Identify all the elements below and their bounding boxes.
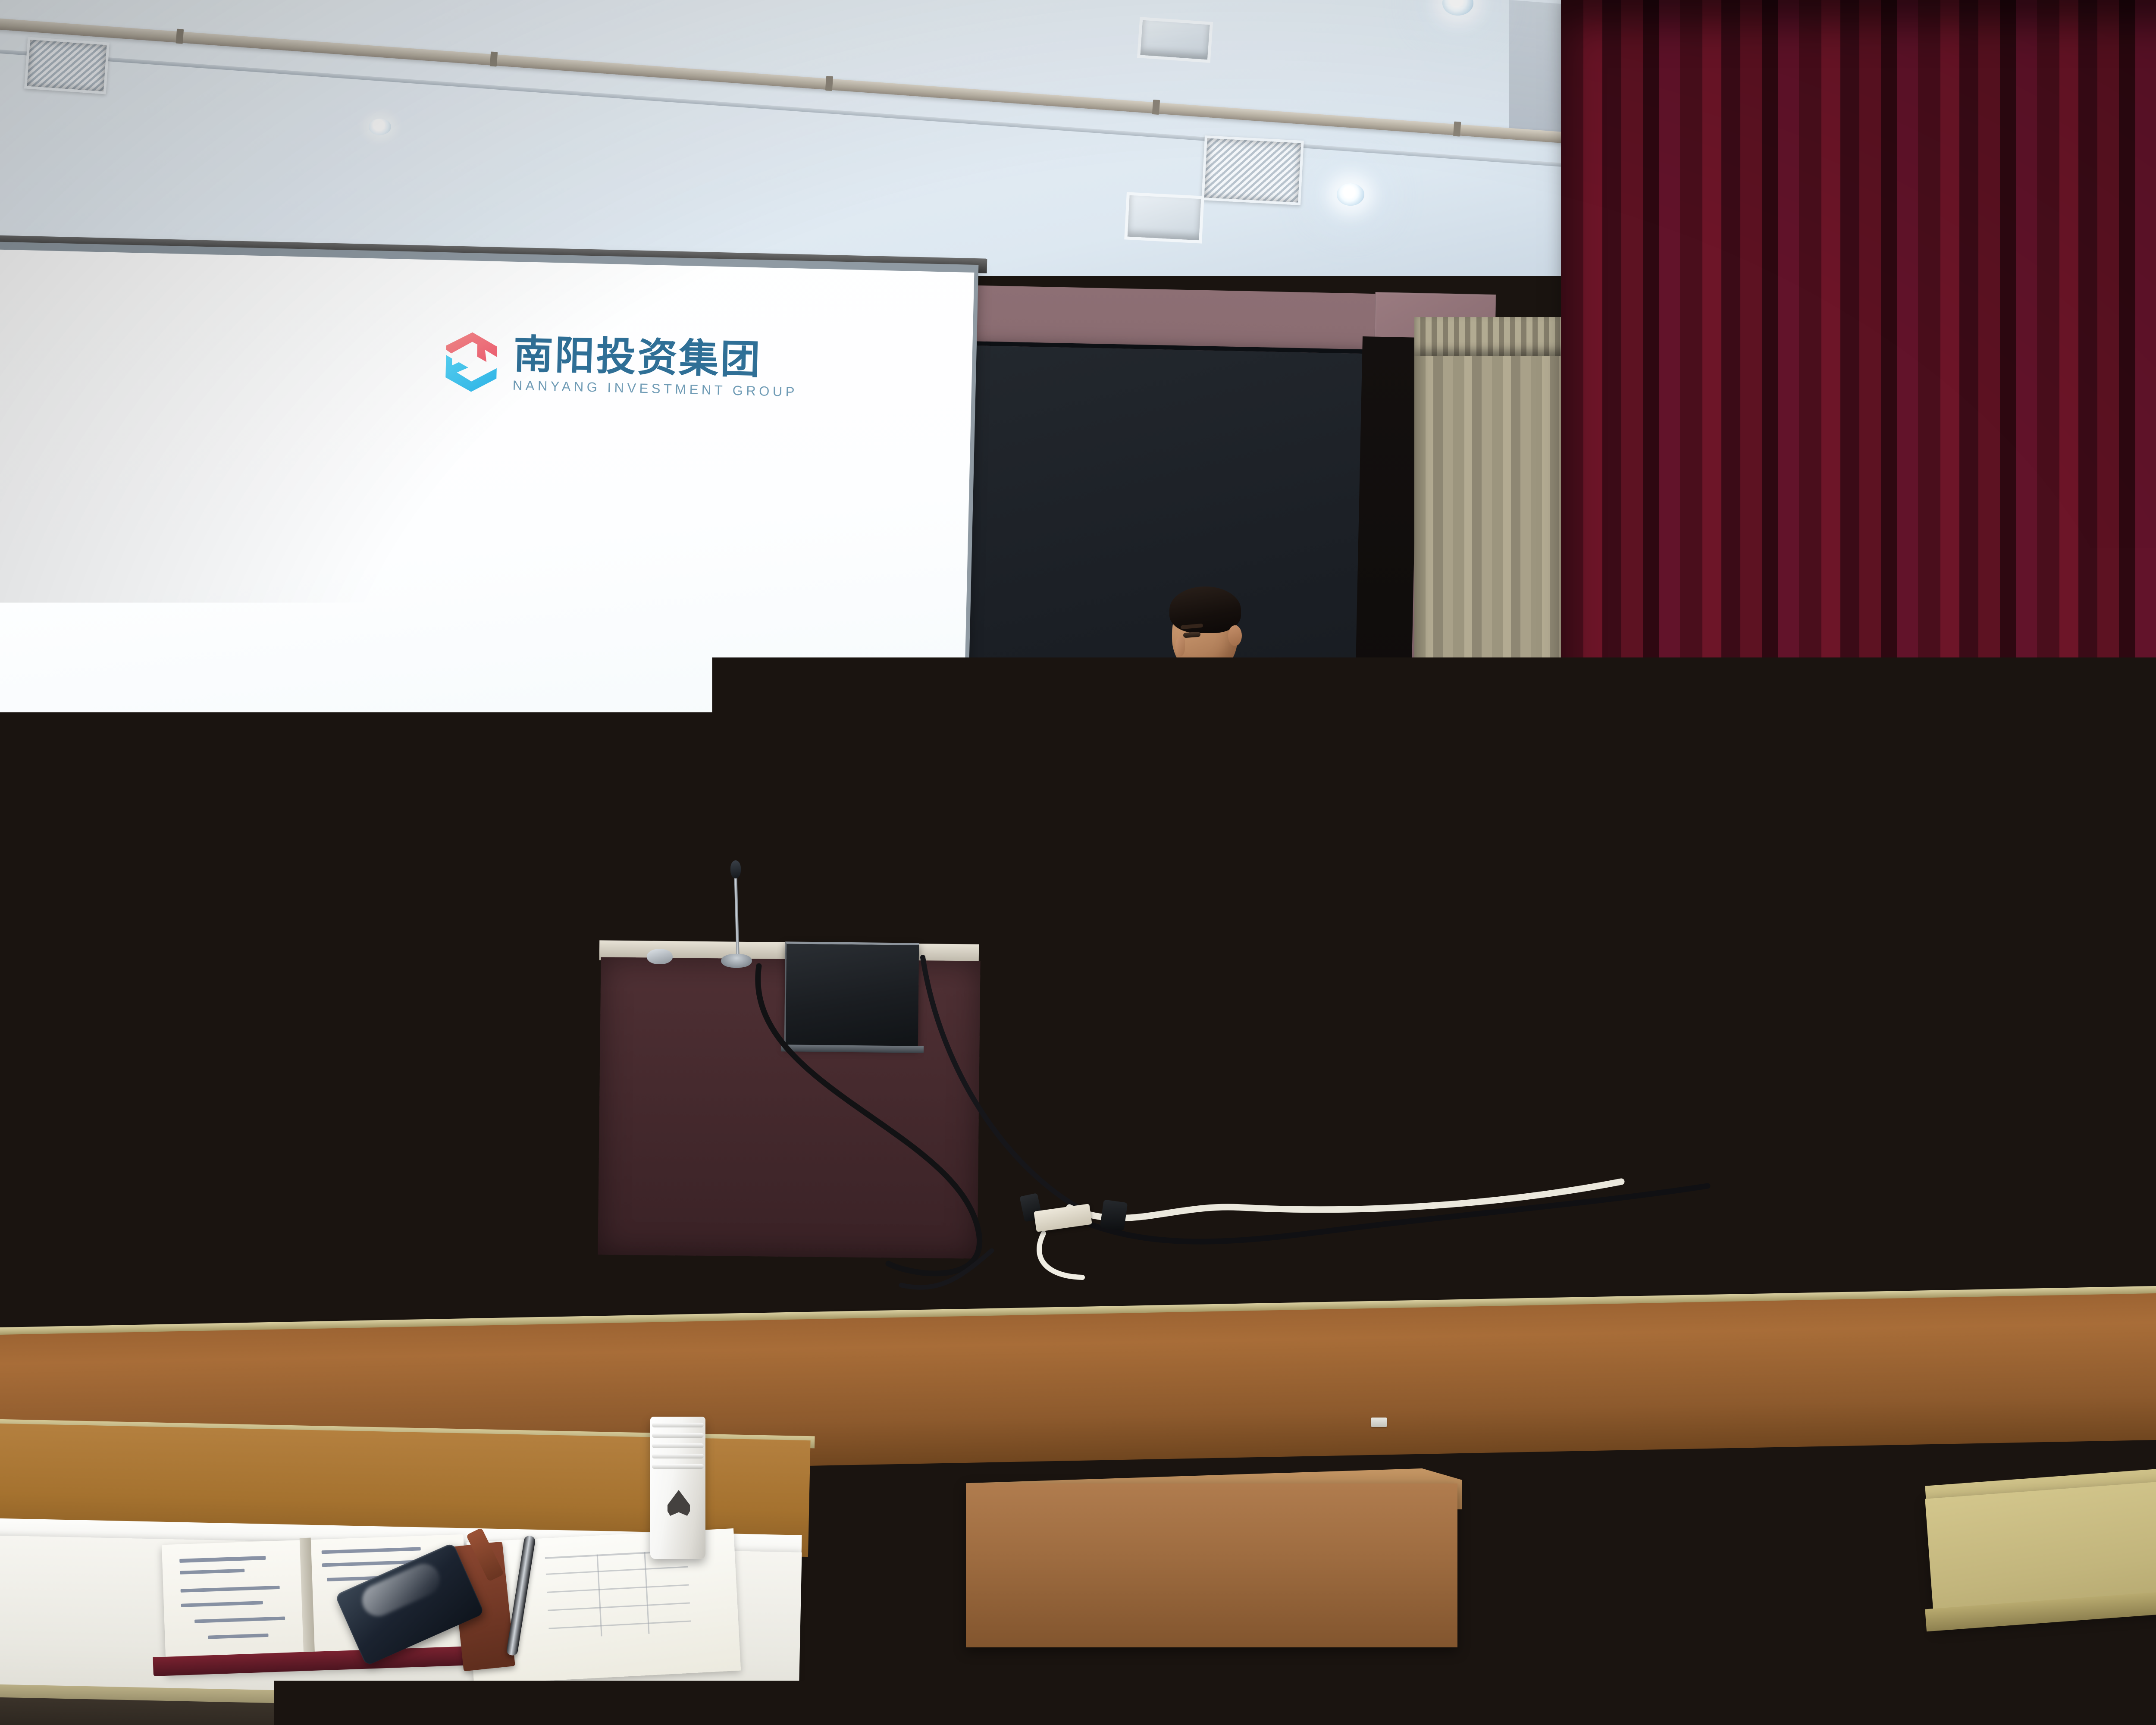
logo-text-cn: 南阳投资集团 — [513, 334, 799, 381]
slide-title: 理宣贯 — [0, 765, 180, 894]
conduit-clip — [490, 51, 498, 66]
company-logo: 南阳投资集团 NANYANG INVESTMENT GROUP — [441, 329, 799, 402]
speaker-nose — [1175, 637, 1185, 656]
air-diffuser-icon — [24, 37, 110, 94]
shirt-pocket — [1203, 793, 1243, 844]
speaker-hair — [1169, 586, 1241, 633]
conduit-clip — [1453, 122, 1461, 137]
paper-cup-stack — [650, 1417, 705, 1559]
access-panel-icon — [1137, 17, 1213, 63]
air-diffuser-icon — [1201, 135, 1304, 205]
projection-screen: 南阳投资集团 NANYANG INVESTMENT GROUP 部 理宣贯 — [0, 249, 974, 919]
conduit-clip — [825, 76, 833, 91]
hexagon-arrow-logo-icon — [441, 329, 502, 395]
conduit-clip — [176, 29, 184, 44]
downlight-icon — [1337, 183, 1364, 206]
presentation-clicker-icon — [1106, 829, 1141, 862]
tile-floor-lower — [1115, 1673, 1731, 1725]
power-adapter-icon — [1100, 1199, 1128, 1231]
speaker-ear — [1228, 625, 1242, 646]
wristwatch-icon — [1172, 831, 1197, 853]
wall-outlet-icon — [1371, 1418, 1387, 1427]
conduit-clip — [1152, 100, 1160, 115]
stage-cables — [0, 906, 1811, 1294]
wooden-step-block — [966, 1483, 1457, 1647]
downlight-icon — [369, 119, 391, 135]
gooseneck-microphone-icon — [730, 860, 741, 878]
access-panel-icon — [1124, 192, 1204, 243]
conference-hall-photo: ← 🏃 安全出口 EXIT — [0, 0, 2156, 1725]
